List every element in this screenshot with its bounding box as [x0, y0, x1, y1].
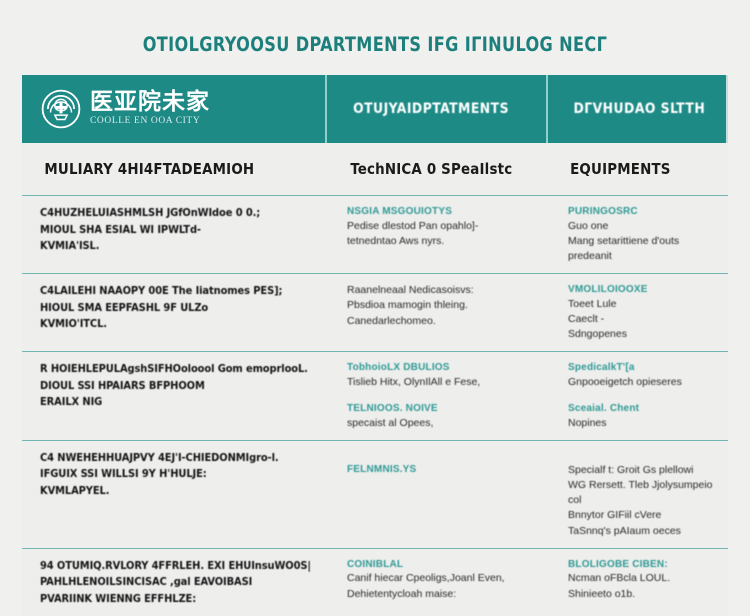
column-header-technical-specialist: TechNICA 0 SPeaIlstc: [325, 143, 546, 195]
table-row: R HOIEHLEPULAgshSIFHOoloool Gom emoprloo…: [22, 351, 728, 439]
table-row: C4LAILEHI NAAOPY 00E The Iiatnomes PES];…: [22, 273, 728, 351]
cell-block-line: specaist al Opees,: [347, 416, 532, 431]
cell-block-heading: PURINGOSRC: [568, 205, 714, 219]
cell-block: PURINGOSRCGuo oneMang setarittiene d'out…: [568, 205, 714, 264]
cell-block-line: WG Rersett. Tleb Jjolysumpeio col: [568, 478, 714, 508]
cell-block-line: tetnedntao Aws nyrs.: [347, 234, 532, 249]
cell-block-line: Caeclt -: [568, 312, 714, 327]
table-row: C4HUZHELUIASHMLSH JGfOnWIdoe 0 0.;MIOUL …: [22, 195, 728, 273]
cell-block: FELNMNIS.YS: [347, 463, 532, 477]
cell-equipments: SpedicalkT'[aGnpooeigetch opieseresSceai…: [546, 352, 728, 439]
cell-block: Sceaial. ChentNopines: [568, 402, 714, 431]
cell-block-line: Tislieb Hitx, OlynIlAll e Fese,: [347, 375, 532, 390]
cell-technical-specialist: Raanelneaal Nedicasoisvs:Pbsdioa mamogin…: [325, 274, 546, 351]
logo-subtitle-en: COOLLE EN OOA CITY: [90, 117, 210, 127]
column-header-label: EQUIPMENTS: [570, 160, 671, 178]
cell-block: NSGIA MSGOUIOTYSPedise dlestod Pan opahl…: [347, 205, 532, 249]
cell-block: VMOLILOIOOXEToeet LuleCaeclt -Sdngopenes: [568, 283, 714, 342]
brand-header-row: 医亚院未家 COOLLE EN OOA CITY OTUJYAIDPTATMEN…: [22, 75, 728, 143]
cell-block-line: Shinieeto o1b.: [568, 587, 714, 602]
column-header-label: TechNICA 0 SPeaIlstc: [350, 160, 512, 178]
cell-block-line: Specialf t: Groit Gs plellowi: [568, 463, 714, 478]
column-header-equipments: EQUIPMENTS: [546, 143, 728, 195]
cell-military: C4HUZHELUIASHMLSH JGfOnWIdoe 0 0.;MIOUL …: [22, 196, 325, 273]
page-title: OTIOLGRYOOSU DPARTMENTS IFG IГINULOG NEC…: [30, 33, 720, 56]
cell-block-line: Pbsdioa mamogin thleing.: [347, 298, 532, 313]
logo-title-cn: 医亚院未家: [90, 91, 210, 114]
cell-block: TobhoioLX DBULIOSTislieb Hitx, OlynIlAll…: [347, 361, 532, 390]
cell-technical-specialist: NSGIA MSGOUIOTYSPedise dlestod Pan opahl…: [325, 196, 546, 273]
cell-block-line: Guo one: [568, 219, 714, 234]
table-row: C4 NWEHEHHUAJPVY 4EJ'I-CHIEDONMIgro-l.IF…: [22, 440, 728, 548]
brand-column-label: OTUJYAIDPTATMENTS: [353, 101, 509, 117]
cell-equipments: Specialf t: Groit Gs plellowiWG Rersett.…: [546, 441, 728, 548]
cell-text: 94 OTUMIQ.RVLORY 4FFRLEH. EXI EHUInsuWO0…: [40, 558, 311, 608]
cell-block-line: Bnnytor GIFiil cVere: [568, 508, 714, 523]
brand-logo-cell: 医亚院未家 COOLLE EN OOA CITY: [22, 75, 325, 143]
cell-block: COINIBLALCanif hiecar Cpeoligs,Joanl Eve…: [347, 558, 532, 602]
cell-block-line: Pedise dlestod Pan opahlo]-: [347, 219, 532, 234]
brand-column-divhudao: DГVHUDAO SLTTH: [546, 75, 728, 143]
brand-column-label: DГVHUDAO SLTTH: [573, 101, 705, 117]
cell-technical-specialist: COINIBLALCanif hiecar Cpeoligs,Joanl Eve…: [325, 549, 546, 616]
cell-technical-specialist: TobhoioLX DBULIOSTislieb Hitx, OlynIlAll…: [325, 352, 546, 439]
cell-block-heading: TobhoioLX DBULIOS: [347, 361, 532, 375]
cell-block-line: Sdngopenes: [568, 327, 714, 342]
cell-block-line: Raanelneaal Nedicasoisvs:: [347, 283, 532, 298]
cell-block-line: Nopines: [568, 416, 714, 431]
cell-block-line: Canedarlechomeo.: [347, 314, 532, 329]
hospital-emblem-icon: [40, 88, 82, 130]
cell-equipments: BLOLIGOBE CIBEN:Ncman oFBcla LOUL.Shinie…: [546, 549, 728, 616]
cell-military: R HOIEHLEPULAgshSIFHOoloool Gom emoprloo…: [22, 352, 325, 439]
cell-block-heading: TELNIOOS. NOIVE: [347, 402, 532, 416]
cell-block-heading: VMOLILOIOOXE: [568, 283, 714, 297]
departments-table: 医亚院未家 COOLLE EN OOA CITY OTUJYAIDPTATMEN…: [22, 75, 728, 500]
cell-block-heading: NSGIA MSGOUIOTYS: [347, 205, 532, 219]
cell-text: R HOIEHLEPULAgshSIFHOoloool Gom emoprloo…: [40, 361, 311, 411]
cell-block: Raanelneaal Nedicasoisvs:Pbsdioa mamogin…: [347, 283, 532, 329]
cell-text: C4LAILEHI NAAOPY 00E The Iiatnomes PES];…: [40, 283, 311, 333]
cell-equipments: PURINGOSRCGuo oneMang setarittiene d'out…: [546, 196, 728, 273]
logo-text: 医亚院未家 COOLLE EN OOA CITY: [90, 91, 210, 127]
cell-block-line: Gnpooeigetch opieseres: [568, 375, 714, 390]
cell-text: C4 NWEHEHHUAJPVY 4EJ'I-CHIEDONMIgro-l.IF…: [40, 450, 311, 500]
column-header-military: MULIARY 4HI4FTADEAMIOH: [22, 143, 325, 195]
cell-block-heading: Sceaial. Chent: [568, 402, 714, 416]
cell-technical-specialist: FELNMNIS.YS: [325, 441, 546, 548]
brand-column-departments: OTUJYAIDPTATMENTS: [325, 75, 546, 143]
cell-block: SpedicalkT'[aGnpooeigetch opieseres: [568, 361, 714, 390]
table-body: C4HUZHELUIASHMLSH JGfOnWIdoe 0 0.;MIOUL …: [22, 195, 728, 616]
cell-block: BLOLIGOBE CIBEN:Ncman oFBcla LOUL.Shinie…: [568, 558, 714, 602]
cell-block-line: Toeet Lule: [568, 297, 714, 312]
cell-block-heading: SpedicalkT'[a: [568, 361, 714, 375]
cell-block: Specialf t: Groit Gs plellowiWG Rersett.…: [568, 463, 714, 539]
cell-block-line: Canif hiecar Cpeoligs,Joanl Even,: [347, 571, 532, 586]
table-row: 94 OTUMIQ.RVLORY 4FFRLEH. EXI EHUInsuWO0…: [22, 548, 728, 616]
cell-block-line: Dehietentycloah maise:: [347, 587, 532, 602]
cell-military: 94 OTUMIQ.RVLORY 4FFRLEH. EXI EHUInsuWO0…: [22, 549, 325, 616]
cell-text: C4HUZHELUIASHMLSH JGfOnWIdoe 0 0.;MIOUL …: [40, 205, 311, 255]
cell-block-heading: COINIBLAL: [347, 558, 532, 572]
column-header-label: MULIARY 4HI4FTADEAMIOH: [44, 160, 254, 178]
cell-block-heading: FELNMNIS.YS: [347, 463, 532, 477]
logo: 医亚院未家 COOLLE EN OOA CITY: [40, 88, 210, 130]
cell-military: C4LAILEHI NAAOPY 00E The Iiatnomes PES];…: [22, 274, 325, 351]
cell-military: C4 NWEHEHHUAJPVY 4EJ'I-CHIEDONMIgro-l.IF…: [22, 441, 325, 548]
cell-block-line: Mang setarittiene d'outs predeanit: [568, 234, 714, 264]
cell-block-heading: BLOLIGOBE CIBEN:: [568, 558, 714, 572]
column-header-row: MULIARY 4HI4FTADEAMIOH TechNICA 0 SPeaIl…: [22, 143, 728, 195]
cell-block: TELNIOOS. NOIVEspecaist al Opees,: [347, 402, 532, 431]
cell-block-line: TaSnnq's pAIaum oeces: [568, 524, 714, 539]
cell-equipments: VMOLILOIOOXEToeet LuleCaeclt -Sdngopenes: [546, 274, 728, 351]
cell-block-line: Ncman oFBcla LOUL.: [568, 571, 714, 586]
